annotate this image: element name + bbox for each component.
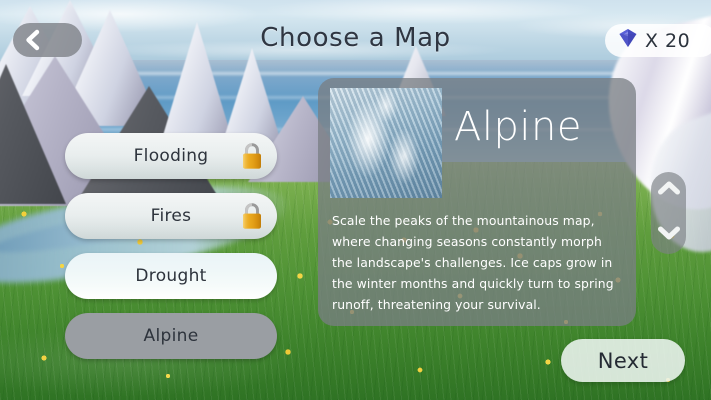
currency-counter: X 20 — [605, 24, 711, 57]
map-detail-header: Alpine — [318, 78, 636, 204]
next-button[interactable]: Next — [561, 339, 685, 382]
alpine-terrain-thumbnail — [330, 88, 442, 198]
map-list-item-drought[interactable]: Drought — [65, 253, 277, 299]
chevron-down-icon[interactable] — [657, 225, 681, 246]
map-detail-panel: Alpine Scale the peaks of the mountainou… — [318, 78, 636, 326]
map-item-label: Drought — [135, 266, 206, 286]
gem-icon — [617, 27, 639, 54]
gem-count-label: X 20 — [645, 30, 690, 52]
map-item-label: Alpine — [144, 326, 199, 346]
map-list-item-alpine[interactable]: Alpine — [65, 313, 277, 359]
padlock-icon — [239, 141, 265, 171]
map-item-label: Flooding — [134, 146, 209, 166]
padlock-icon — [239, 201, 265, 231]
chevron-up-icon[interactable] — [657, 180, 681, 201]
map-select-screen: Choose a Map X 20 Flooding — [0, 0, 711, 400]
map-list-item-flooding[interactable]: Flooding — [65, 133, 277, 179]
map-item-label: Fires — [151, 206, 192, 226]
map-detail-title: Alpine — [454, 104, 582, 150]
list-scroll-control — [651, 172, 686, 254]
map-list-item-fires[interactable]: Fires — [65, 193, 277, 239]
map-detail-description: Scale the peaks of the mountainous map, … — [318, 204, 636, 315]
map-list: Flooding — [65, 133, 277, 359]
next-button-label: Next — [598, 349, 649, 373]
